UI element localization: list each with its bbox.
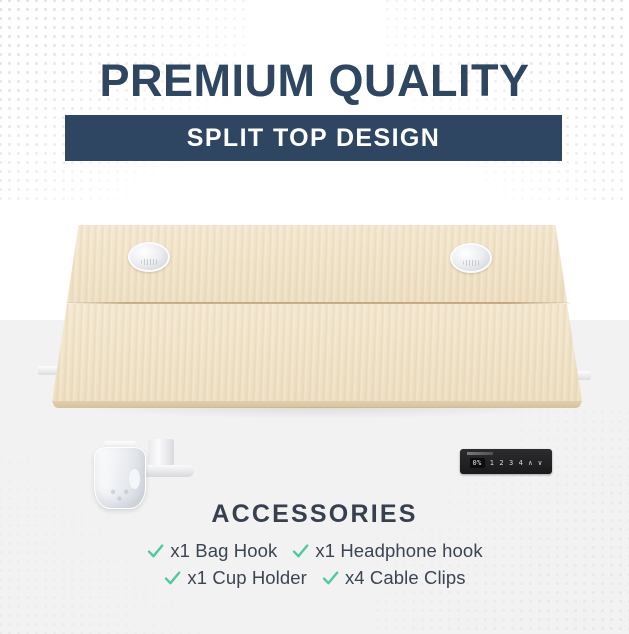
keypad-preset-3[interactable]: 3 — [509, 459, 514, 467]
keypad-down-icon[interactable]: ∨ — [538, 459, 543, 467]
desktop-surface: 0% 1 2 3 4 ∧ ∨ — [52, 225, 582, 425]
headline: PREMIUM QUALITY — [0, 58, 629, 103]
keypad-up-icon[interactable]: ∧ — [528, 459, 533, 467]
keypad-button-row: 0% 1 2 3 4 ∧ ∨ — [460, 458, 552, 468]
accessories-list: x1 Bag Hook x1 Headphone hook x1 Cup Hol… — [0, 540, 629, 594]
keypad-preset-4[interactable]: 4 — [519, 459, 524, 467]
grommet-slot — [463, 260, 480, 266]
keypad-brand-mark — [467, 452, 493, 455]
accessories-row: x1 Cup Holder x4 Cable Clips — [0, 567, 629, 589]
accessory-item-bag-hook: x1 Bag Hook — [146, 540, 277, 562]
accessory-item-cup-holder: x1 Cup Holder — [163, 567, 307, 589]
check-icon — [321, 569, 340, 588]
check-icon — [146, 542, 165, 561]
keypad-preset-1[interactable]: 1 — [490, 459, 495, 467]
accessory-label: x4 Cable Clips — [345, 567, 466, 589]
desk-product-illustration: 0% 1 2 3 4 ∧ ∨ — [0, 195, 629, 495]
keypad-height-display: 0% — [470, 458, 485, 468]
product-marketing-poster: PREMIUM QUALITY SPLIT TOP DESIGN — [0, 0, 629, 634]
accessories-row: x1 Bag Hook x1 Headphone hook — [0, 540, 629, 562]
keypad-preset-2[interactable]: 2 — [499, 459, 504, 467]
desktop-front-half — [52, 304, 582, 402]
cup-holder-cutout-right — [129, 469, 140, 489]
accessory-item-headphone-hook: x1 Headphone hook — [291, 540, 482, 562]
check-icon — [163, 569, 182, 588]
right-cable-grommet-icon — [450, 243, 492, 273]
cup-holder-cutout-left — [100, 469, 111, 489]
accessory-label: x1 Bag Hook — [170, 540, 277, 562]
desktop-split-seam — [66, 302, 570, 304]
accessory-label: x1 Headphone hook — [315, 540, 482, 562]
subtitle-banner: SPLIT TOP DESIGN — [65, 115, 562, 161]
check-icon — [291, 542, 310, 561]
subtitle-banner-text: SPLIT TOP DESIGN — [65, 115, 562, 161]
accessories-title: ACCESSORIES — [0, 500, 629, 529]
desktop-drop-shadow — [76, 407, 562, 419]
left-cable-grommet-icon — [128, 242, 170, 272]
accessory-item-cable-clips: x4 Cable Clips — [321, 567, 466, 589]
grommet-slot — [141, 259, 158, 265]
height-control-keypad[interactable]: 0% 1 2 3 4 ∧ ∨ — [460, 449, 552, 474]
accessory-label: x1 Cup Holder — [187, 567, 307, 589]
